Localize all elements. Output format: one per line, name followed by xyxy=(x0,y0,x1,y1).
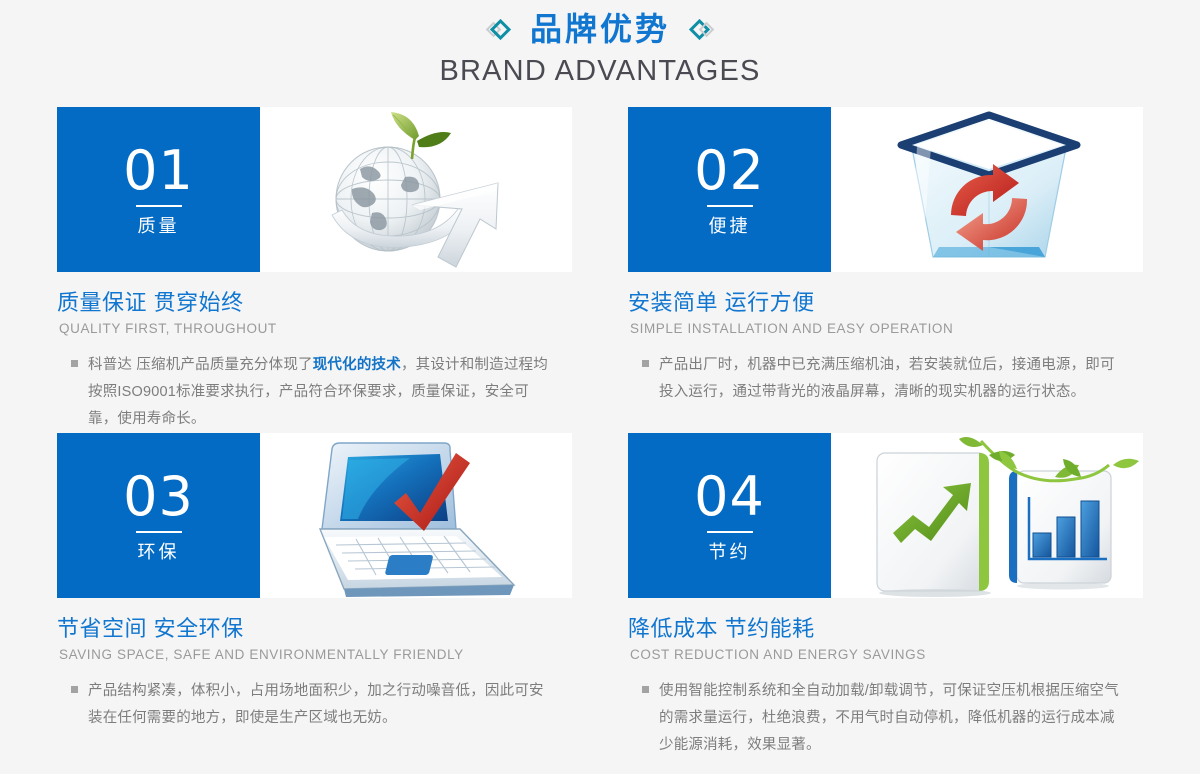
card-media: 02 便捷 xyxy=(628,107,1143,272)
advantage-card-01[interactable]: 01 质量 xyxy=(57,107,572,433)
card-body: 使用智能控制系统和全自动加载/卸载调节，可保证空压机根据压缩空气的需求量运行，杜… xyxy=(628,678,1143,759)
card-number: 01 xyxy=(123,143,194,199)
bullet-square-icon xyxy=(71,686,78,693)
card-number: 02 xyxy=(694,143,765,199)
advantage-card-04[interactable]: 04 节约 xyxy=(628,433,1143,759)
card-keyword: 节约 xyxy=(709,541,751,563)
recycle-bin-arrows-icon xyxy=(831,107,1143,272)
growth-chart-cards-icon xyxy=(831,433,1143,598)
card-subtitle: SAVING SPACE, SAFE AND ENVIRONMENTALLY F… xyxy=(57,646,572,664)
card-subtitle: SIMPLE INSTALLATION AND EASY OPERATION xyxy=(628,320,1143,338)
card-body: 科普达 压缩机产品质量充分体现了现代化的技术，其设计和制造过程均按照ISO900… xyxy=(57,352,572,433)
section-title-cn: 品牌优势 xyxy=(530,9,670,49)
number-tile: 03 环保 xyxy=(57,433,260,598)
card-body: 产品结构紧凑，体积小，占用场地面积少，加之行动噪音低，因此可安装在任何需要的地方… xyxy=(57,678,572,732)
card-body-text: 使用智能控制系统和全自动加载/卸载调节，可保证空压机根据压缩空气的需求量运行，杜… xyxy=(659,678,1127,759)
bullet-square-icon xyxy=(642,686,649,693)
card-title: 节省空间 安全环保 xyxy=(57,615,572,643)
tile-divider xyxy=(707,205,753,207)
card-title: 质量保证 贯穿始终 xyxy=(57,289,572,317)
card-number: 04 xyxy=(694,469,765,525)
tile-divider xyxy=(136,531,182,533)
body-text-pre: 使用智能控制系统和全自动加载/卸载调节，可保证空压机根据压缩空气的需求量运行，杜… xyxy=(659,683,1119,753)
section-title-en: BRAND ADVANTAGES xyxy=(0,52,1200,90)
number-tile: 02 便捷 xyxy=(628,107,831,272)
card-keyword: 环保 xyxy=(138,541,180,563)
section-header: 品牌优势 BRAND ADVANTAGES xyxy=(0,0,1200,90)
card-media: 04 节约 xyxy=(628,433,1143,598)
diamond-decoration-right-icon xyxy=(692,22,712,37)
laptop-checkmark-icon xyxy=(260,433,572,598)
body-text-pre: 科普达 压缩机产品质量充分体现了 xyxy=(88,357,313,373)
card-body-text: 产品出厂时，机器中已充满压缩机油，若安装就位后，接通电源，即可投入运行，通过带背… xyxy=(659,352,1127,406)
body-text-pre: 产品结构紧凑，体积小，占用场地面积少，加之行动噪音低，因此可安装在任何需要的地方… xyxy=(88,683,544,726)
card-title: 降低成本 节约能耗 xyxy=(628,615,1143,643)
card-title: 安装简单 运行方便 xyxy=(628,289,1143,317)
advantages-row: 03 环保 xyxy=(57,433,1143,759)
number-tile: 04 节约 xyxy=(628,433,831,598)
tile-divider xyxy=(136,205,182,207)
card-keyword: 质量 xyxy=(138,215,180,237)
diamond-decoration-left-icon xyxy=(488,22,508,37)
globe-sprout-arrow-icon xyxy=(260,107,572,272)
advantages-row: 01 质量 xyxy=(57,107,1143,433)
body-text-pre: 产品出厂时，机器中已充满压缩机油，若安装就位后，接通电源，即可投入运行，通过带背… xyxy=(659,357,1115,400)
card-subtitle: COST REDUCTION AND ENERGY SAVINGS xyxy=(628,646,1143,664)
number-tile: 01 质量 xyxy=(57,107,260,272)
bullet-square-icon xyxy=(71,360,78,367)
card-subtitle: QUALITY FIRST, THROUGHOUT xyxy=(57,320,572,338)
advantages-grid: 01 质量 xyxy=(57,107,1143,759)
advantage-card-03[interactable]: 03 环保 xyxy=(57,433,572,759)
advantage-card-02[interactable]: 02 便捷 xyxy=(628,107,1143,433)
card-body: 产品出厂时，机器中已充满压缩机油，若安装就位后，接通电源，即可投入运行，通过带背… xyxy=(628,352,1143,406)
card-number: 03 xyxy=(123,469,194,525)
card-keyword: 便捷 xyxy=(709,215,751,237)
bullet-square-icon xyxy=(642,360,649,367)
card-media: 03 环保 xyxy=(57,433,572,598)
card-body-text: 产品结构紧凑，体积小，占用场地面积少，加之行动噪音低，因此可安装在任何需要的地方… xyxy=(88,678,556,732)
section-title-row: 品牌优势 xyxy=(0,8,1200,50)
card-body-text: 科普达 压缩机产品质量充分体现了现代化的技术，其设计和制造过程均按照ISO900… xyxy=(88,352,556,433)
body-text-highlight: 现代化的技术 xyxy=(313,357,401,373)
card-media: 01 质量 xyxy=(57,107,572,272)
tile-divider xyxy=(707,531,753,533)
